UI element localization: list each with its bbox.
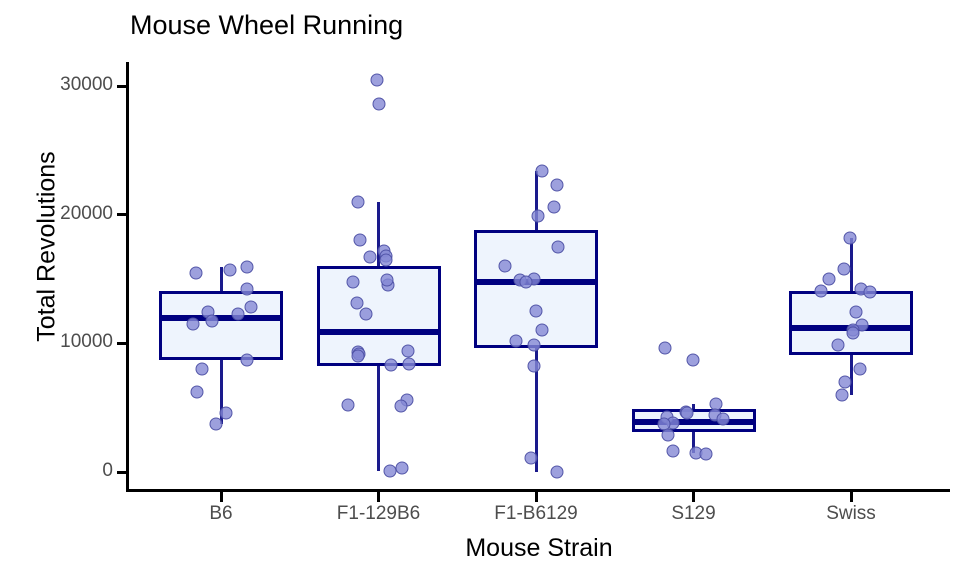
data-point — [359, 307, 372, 320]
data-point — [535, 164, 548, 177]
data-point — [224, 263, 237, 276]
x-axis-title: Mouse Strain — [128, 534, 950, 563]
x-axis-line — [126, 489, 950, 492]
data-point — [381, 274, 394, 287]
data-point — [686, 354, 699, 367]
y-axis-line — [126, 62, 129, 492]
data-point — [659, 342, 672, 355]
x-tick — [220, 492, 223, 502]
data-point — [370, 73, 383, 86]
y-tick-label: 20000 — [0, 203, 113, 225]
data-point — [232, 307, 245, 320]
data-point — [241, 354, 254, 367]
x-tick-label-s129: S129 — [671, 503, 715, 525]
y-tick — [117, 85, 127, 88]
chart-title: Mouse Wheel Running — [130, 10, 403, 41]
x-tick-label-f1-b6129: F1-B6129 — [494, 503, 577, 525]
data-point — [351, 350, 364, 363]
x-tick-label-swiss: Swiss — [826, 503, 876, 525]
data-point — [395, 462, 408, 475]
median-b6 — [159, 315, 283, 321]
data-point — [831, 338, 844, 351]
data-point — [717, 413, 730, 426]
data-point — [700, 447, 713, 460]
x-tick — [692, 492, 695, 502]
data-point — [548, 200, 561, 213]
box-f1-129b6 — [317, 266, 441, 366]
data-point — [195, 363, 208, 376]
data-point — [551, 179, 564, 192]
data-point — [191, 386, 204, 399]
data-point — [402, 345, 415, 358]
median-s129 — [632, 419, 756, 425]
data-point — [384, 464, 397, 477]
y-axis-title: Total Revolutions — [33, 82, 62, 412]
median-f1-129b6 — [317, 329, 441, 335]
data-point — [839, 375, 852, 388]
data-point — [244, 301, 257, 314]
data-point — [853, 363, 866, 376]
box-b6 — [159, 291, 283, 360]
data-point — [524, 451, 537, 464]
data-point — [219, 406, 232, 419]
data-point — [528, 338, 541, 351]
data-point — [385, 359, 398, 372]
data-point — [666, 445, 679, 458]
data-point — [241, 261, 254, 274]
y-tick — [117, 342, 127, 345]
data-point — [850, 306, 863, 319]
data-point — [814, 284, 827, 297]
x-tick — [850, 492, 853, 502]
y-tick-label: 0 — [0, 460, 113, 482]
data-point — [552, 240, 565, 253]
data-point — [394, 400, 407, 413]
chart-root: Mouse Wheel Running Total Revolutions Mo… — [0, 0, 960, 576]
data-point — [680, 406, 693, 419]
x-tick — [377, 492, 380, 502]
data-point — [509, 334, 522, 347]
data-point — [532, 209, 545, 222]
data-point — [354, 234, 367, 247]
data-point — [661, 428, 674, 441]
data-point — [341, 399, 354, 412]
data-point — [187, 318, 200, 331]
data-point — [499, 260, 512, 273]
y-tick-label: 30000 — [0, 74, 113, 96]
data-point — [205, 315, 218, 328]
data-point — [528, 360, 541, 373]
data-point — [843, 231, 856, 244]
y-tick-label: 10000 — [0, 331, 113, 353]
y-tick — [117, 471, 127, 474]
x-tick — [535, 492, 538, 502]
data-point — [210, 418, 223, 431]
data-point — [373, 98, 386, 111]
data-point — [836, 388, 849, 401]
y-tick — [117, 213, 127, 216]
data-point — [529, 305, 542, 318]
data-point — [363, 251, 376, 264]
data-point — [351, 195, 364, 208]
data-point — [536, 324, 549, 337]
data-point — [520, 275, 533, 288]
data-point — [863, 285, 876, 298]
data-point — [189, 266, 202, 279]
data-point — [847, 327, 860, 340]
data-point — [347, 275, 360, 288]
data-point — [402, 357, 415, 370]
data-point — [837, 262, 850, 275]
x-tick-label-f1-129b6: F1-129B6 — [337, 503, 420, 525]
box-swiss — [789, 291, 913, 355]
data-point — [241, 283, 254, 296]
x-tick-label-b6: B6 — [209, 503, 232, 525]
data-point — [823, 273, 836, 286]
data-point — [551, 466, 564, 479]
data-point — [379, 253, 392, 266]
